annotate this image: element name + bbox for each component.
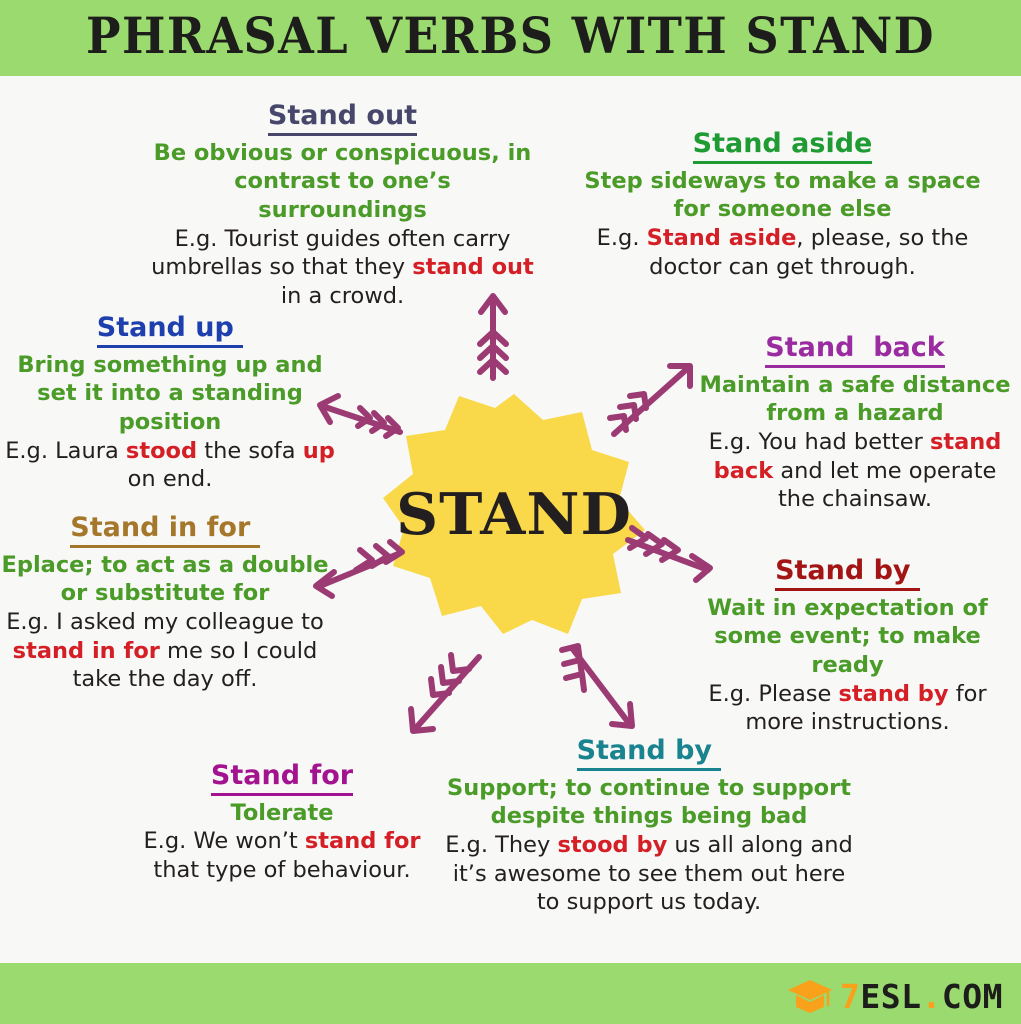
block-definition: Be obvious or conspicuous, in contrast t… (150, 139, 535, 225)
example-post: on end. (128, 466, 213, 492)
heading-wrap: Stand by (443, 735, 855, 774)
phrasal-verb-block-stand-up: Stand up Bring something up and set it i… (5, 312, 335, 494)
example-highlight: stand in for (13, 638, 160, 664)
heading-wrap: Stand up (5, 312, 335, 351)
block-heading: Stand for (211, 760, 353, 796)
example-mid: the sofa (197, 438, 303, 464)
example-pre: E.g. You had better (709, 429, 930, 455)
block-definition: Eplace; to act as a double or substitute… (0, 551, 330, 608)
block-heading: Stand out (268, 100, 417, 136)
block-definition: Step sideways to make a space for someon… (565, 167, 1000, 224)
example-highlight: stood by (557, 832, 667, 858)
arrow-up-right-icon (608, 360, 700, 440)
center-badge: STAND (383, 394, 645, 634)
phrasal-verb-block-stand-back: Stand back Maintain a safe distance from… (695, 332, 1015, 514)
logo-seven: 7 (840, 977, 860, 1016)
block-heading: Stand back (765, 332, 944, 368)
block-heading: Stand in for (70, 512, 259, 548)
phrasal-verb-block-stand-aside: Stand aside Step sideways to make a spac… (565, 128, 1000, 281)
block-definition: Bring something up and set it into a sta… (5, 351, 335, 437)
logo-text: 7ESL.COM (840, 980, 1003, 1013)
phrasal-verb-block-stand-out: Stand out Be obvious or conspicuous, in … (150, 100, 535, 310)
heading-wrap: Stand by (680, 555, 1015, 594)
phrasal-verb-block-stand-in-for: Stand in for Eplace; to act as a double … (0, 512, 330, 694)
example-highlight: stood (126, 438, 197, 464)
arrow-down-left-icon (405, 645, 489, 737)
block-example: E.g. You had better stand back and let m… (695, 428, 1015, 514)
block-heading: Stand aside (693, 128, 873, 164)
block-definition: Tolerate (132, 799, 432, 828)
example-post: in a crowd. (281, 283, 404, 309)
phrasal-verb-block-stand-for: Stand for Tolerate E.g. We won’t stand f… (132, 760, 432, 885)
arrow-down-right-icon (558, 638, 642, 734)
block-heading: Stand by (775, 555, 920, 591)
heading-wrap: Stand for (132, 760, 432, 799)
example-highlight: stand by (838, 681, 948, 707)
example-pre: E.g. (597, 225, 647, 251)
graduation-cap-icon (787, 978, 833, 1014)
block-example: E.g. They stood by us all along and it’s… (443, 831, 855, 917)
heading-wrap: Stand aside (565, 128, 1000, 167)
block-example: E.g. Please stand by for more instructio… (680, 680, 1015, 737)
block-example: E.g. Laura stood the sofa up on end. (5, 437, 335, 494)
phrasal-verb-block-stand-by-bottom: Stand by Support; to continue to support… (443, 735, 855, 917)
block-definition: Support; to continue to support despite … (443, 774, 855, 831)
heading-wrap: Stand back (695, 332, 1015, 371)
heading-wrap: Stand out (150, 100, 535, 139)
block-example: E.g. Stand aside, please, so the doctor … (565, 224, 1000, 281)
page-title: PHRASAL VERBS WITH STAND (41, 6, 980, 65)
block-definition: Wait in expectation of some event; to ma… (680, 594, 1015, 680)
example-post: that type of behaviour. (153, 857, 410, 883)
heading-wrap: Stand in for (0, 512, 330, 551)
logo-dot: . (922, 977, 942, 1016)
example-highlight: stand for (305, 828, 421, 854)
logo-esl: ESL (860, 977, 921, 1016)
site-logo[interactable]: 7ESL.COM (787, 976, 1003, 1016)
phrasal-verb-block-stand-by-right: Stand by Wait in expectation of some eve… (680, 555, 1015, 737)
block-example: E.g. Tourist guides often carry umbrella… (150, 225, 535, 311)
block-example: E.g. I asked my colleague to stand in fo… (0, 608, 330, 694)
block-heading: Stand by (577, 735, 722, 771)
example-pre: E.g. Please (708, 681, 838, 707)
example-highlight-2: up (303, 438, 335, 464)
block-example: E.g. We won’t stand for that type of beh… (132, 827, 432, 884)
example-pre: E.g. I asked my colleague to (6, 609, 324, 635)
logo-com: COM (942, 977, 1003, 1016)
block-heading: Stand up (97, 312, 243, 348)
example-pre: E.g. We won’t (143, 828, 304, 854)
example-highlight: stand out (412, 254, 534, 280)
example-highlight: Stand aside (647, 225, 797, 251)
block-definition: Maintain a safe distance from a hazard (695, 371, 1015, 428)
infographic-poster: PHRASAL VERBS WITH STAND STAND (0, 0, 1021, 1024)
example-pre: E.g. They (445, 832, 557, 858)
example-pre: E.g. Laura (5, 438, 126, 464)
example-post: and let me operate the chainsaw. (773, 458, 996, 513)
